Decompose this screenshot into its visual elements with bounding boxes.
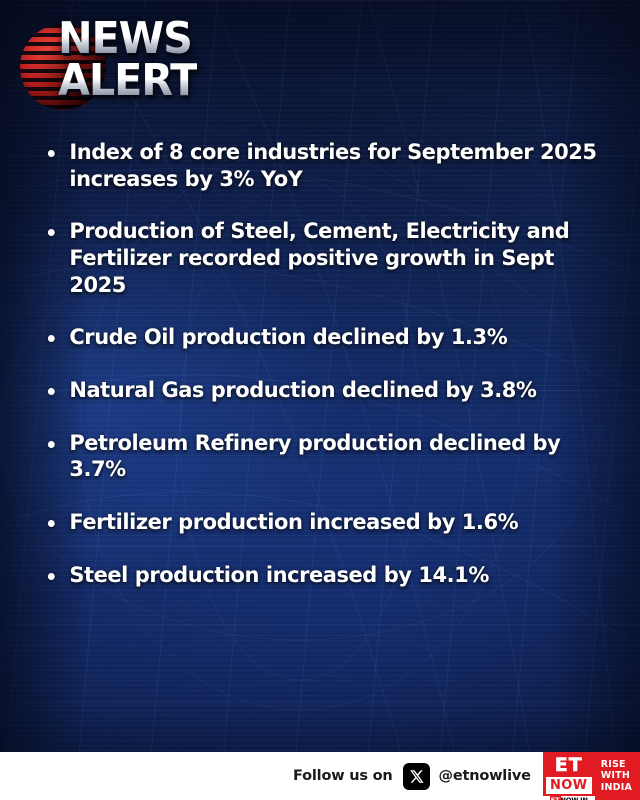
bullet-item: Index of 8 core industries for September… [44, 140, 608, 193]
etnow-logo-mark: ET NOW ETNOW.IN [543, 752, 595, 800]
etnow-url-prefix: ET [550, 796, 561, 800]
tagline-line-2: WITH [601, 770, 632, 782]
page-title: NEWS ALERT [58, 20, 206, 100]
follow-us-label: Follow us on [293, 768, 393, 784]
title-line-news: NEWS [58, 20, 197, 58]
bullet-item: Petroleum Refinery production declined b… [44, 431, 608, 484]
bullet-item: Production of Steel, Cement, Electricity… [44, 219, 608, 299]
bullet-list: Index of 8 core industries for September… [0, 140, 640, 748]
bullet-item: Crude Oil production declined by 1.3% [44, 325, 608, 352]
bullet-item: Fertilizer production increased by 1.6% [44, 510, 608, 537]
etnow-logo: ET NOW ETNOW.IN RISE WITH INDIA [543, 752, 640, 800]
bullet-item: Natural Gas production declined by 3.8% [44, 378, 608, 405]
etnow-tagline: RISE WITH INDIA [595, 752, 640, 800]
social-handle[interactable]: @etnowlive [439, 768, 531, 784]
footer-bar: Follow us on @etnowlive ET NOW ETNOW.IN … [0, 752, 640, 800]
title-line-alert: ALERT [58, 62, 197, 100]
news-alert-card: NEWS ALERT Index of 8 core industries fo… [0, 0, 640, 800]
etnow-logo-et: ET [555, 756, 583, 775]
tagline-line-3: INDIA [601, 782, 632, 794]
etnow-logo-url: ETNOW.IN [543, 796, 595, 800]
news-alert-header: NEWS ALERT [14, 12, 374, 124]
bullet-item: Steel production increased by 14.1% [44, 563, 608, 590]
tagline-line-1: RISE [601, 759, 632, 771]
etnow-logo-now: NOW [546, 777, 592, 794]
x-twitter-icon[interactable] [403, 763, 430, 790]
